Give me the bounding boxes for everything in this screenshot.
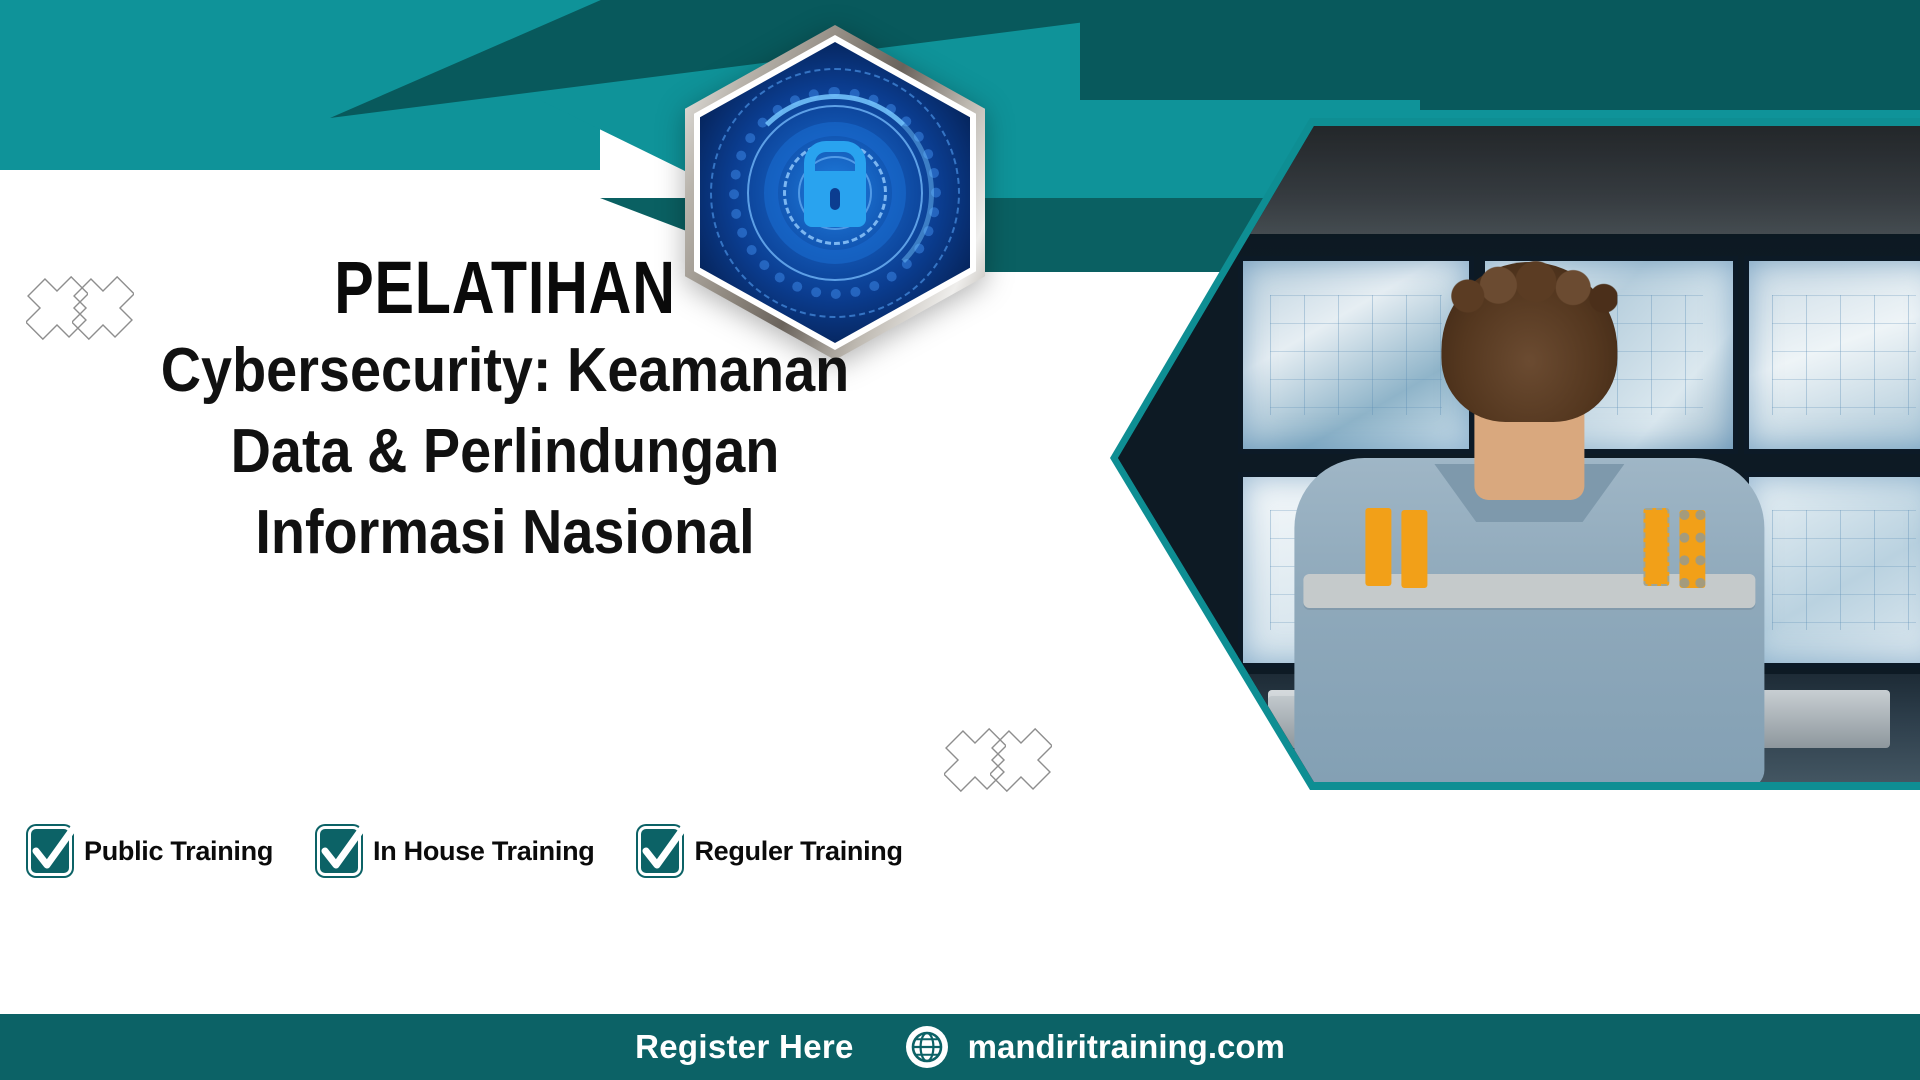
title-line-1: Cybersecurity: Keamanan — [105, 331, 906, 412]
globe-icon — [906, 1026, 948, 1068]
badge-public-training[interactable]: Public Training — [28, 826, 273, 876]
page-kicker: PELATIHAN — [101, 250, 909, 325]
badge-in-house-training[interactable]: In House Training — [317, 826, 594, 876]
cross-outline-icon — [990, 726, 1052, 794]
poster-canvas: PELATIHAN Cybersecurity: Keamanan Data &… — [0, 0, 1920, 1080]
footer-bar: Register Here mandiritraining.com — [0, 1014, 1920, 1080]
badge-label: In House Training — [373, 836, 594, 867]
checkbox-checked-icon[interactable] — [638, 826, 682, 876]
dark-teal-band-3 — [1420, 0, 1920, 110]
title-line-2: Data & Perlindungan — [105, 412, 906, 493]
badge-label: Reguler Training — [694, 836, 902, 867]
training-type-list: Public Training In House Training Regule… — [28, 826, 903, 876]
website-link[interactable]: mandiritraining.com — [906, 1026, 1285, 1068]
lock-icon — [804, 171, 866, 227]
page-title: Cybersecurity: Keamanan Data & Perlindun… — [51, 331, 960, 573]
website-url[interactable]: mandiritraining.com — [968, 1028, 1285, 1066]
operator-person — [1269, 262, 1789, 782]
checkbox-checked-icon[interactable] — [317, 826, 361, 876]
headline-block: PELATIHAN Cybersecurity: Keamanan Data &… — [0, 250, 1010, 573]
badge-label: Public Training — [84, 836, 273, 867]
hi-vis-stripe — [1401, 510, 1427, 588]
register-here-label[interactable]: Register Here — [635, 1028, 854, 1066]
title-line-3: Informasi Nasional — [105, 493, 906, 574]
hi-vis-stripe — [1365, 508, 1391, 586]
badge-reguler-training[interactable]: Reguler Training — [638, 826, 902, 876]
operator-hair — [1441, 262, 1617, 422]
checkbox-checked-icon[interactable] — [28, 826, 72, 876]
hi-vis-stripe — [1679, 510, 1705, 588]
hi-vis-stripe — [1643, 508, 1669, 586]
